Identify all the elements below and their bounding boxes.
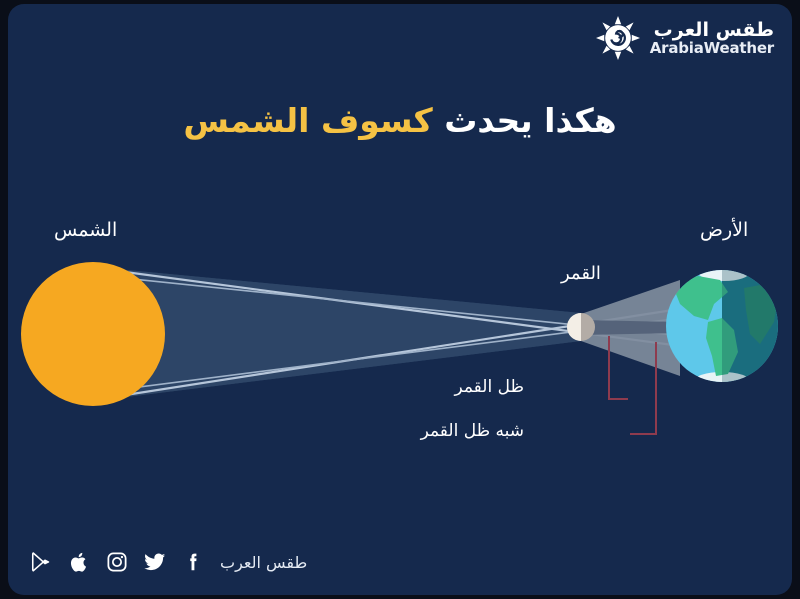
eclipse-diagram [8,4,792,595]
moon-body [567,313,595,341]
footer-brand: طقس العرب [220,553,307,572]
label-umbra: ظل القمر [454,377,524,397]
brand-name-en: ArabiaWeather [650,40,774,56]
label-earth: الأرض [700,219,748,241]
label-penumbra: شبه ظل القمر [421,421,524,441]
facebook-icon[interactable] [182,551,204,573]
instagram-icon[interactable] [106,551,128,573]
apple-icon[interactable] [68,551,90,573]
sun-spiral-icon [596,16,640,60]
page-title: هكذا يحدث كسوف الشمس [8,101,792,140]
umbra-cone [581,320,676,335]
label-sun: الشمس [54,219,117,241]
google-play-icon[interactable] [30,551,52,573]
earth-body [666,263,782,390]
brand-text: طقس العرب ArabiaWeather [650,20,774,57]
sun-disc [21,262,165,406]
brand-name-ar: طقس العرب [650,20,774,41]
brand-logo[interactable]: طقس العرب ArabiaWeather [596,16,774,60]
title-part-highlight: كسوف الشمس [183,101,432,140]
label-moon: القمر [561,263,601,284]
title-part-white: هكذا يحدث [444,101,616,140]
footer-bar: طقس العرب [30,551,313,573]
infographic-card: طقس العرب ArabiaWeather هكذا يحدث كسوف ا… [8,4,792,595]
twitter-icon[interactable] [144,551,166,573]
